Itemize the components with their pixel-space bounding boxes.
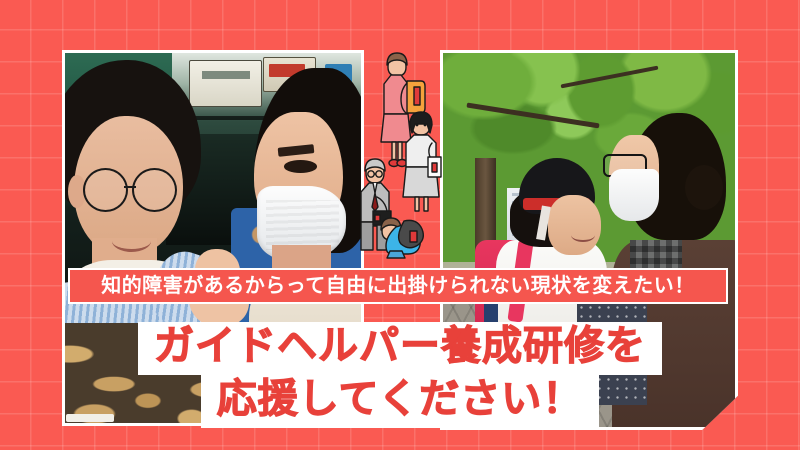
- subheadline-text: 知的障害があるからって自由に出掛けられない現状を変えたい！: [101, 276, 695, 296]
- promo-banner-canvas: 知的障害があるからって自由に出掛けられない現状を変えたい！ ガイドヘルパー養成研…: [0, 0, 800, 450]
- bus-sign-primary: [189, 60, 262, 106]
- headline-box-1: ガイドヘルパー養成研修を: [138, 322, 662, 375]
- helmet-person-smile: [571, 229, 594, 242]
- walker-face-mask-icon: [609, 169, 659, 221]
- left-person-glasses: [83, 168, 178, 209]
- illustration-figure-crouching-child: [381, 218, 423, 258]
- headline-box-2: 応援してください！: [201, 375, 600, 428]
- headline-text-1: ガイドヘルパー養成研修を: [154, 324, 646, 368]
- masked-person-eye: [284, 160, 317, 173]
- left-person-smile: [112, 231, 150, 253]
- people-illustration: [360, 45, 450, 260]
- headline-text-2: 応援してください！: [217, 377, 584, 421]
- subheadline-banner: 知的障害があるからって自由に出掛けられない現状を変えたい！: [68, 268, 728, 304]
- headline-line-1: ガイドヘルパー養成研修を: [0, 322, 800, 375]
- headline-line-2: 応援してください！: [0, 375, 800, 428]
- helmet-person-face: [548, 195, 601, 255]
